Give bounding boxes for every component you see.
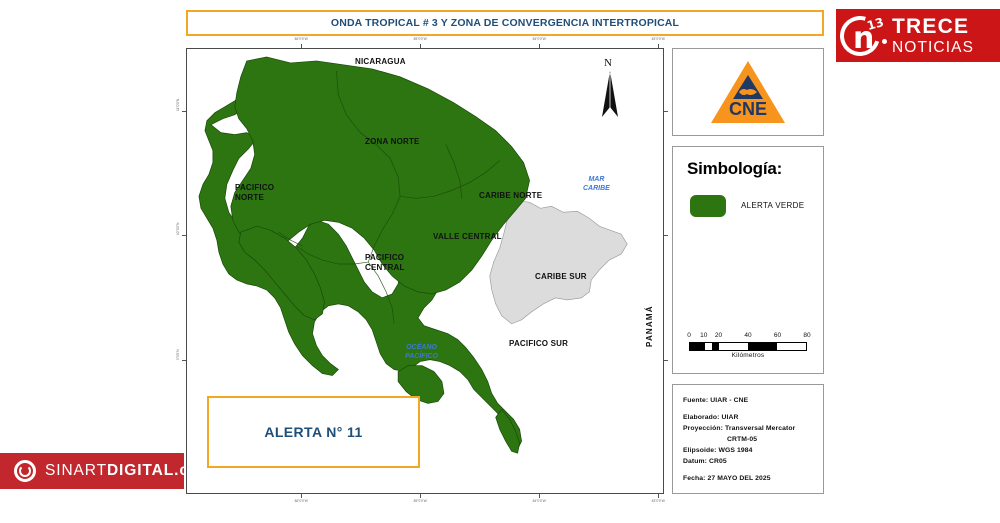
alerta-number-text: ALERTA N° 11 [264, 424, 362, 440]
meta-source: Fuente: UIAR - CNE [683, 395, 823, 406]
sinart-text-regular: SINART [45, 462, 107, 479]
scale-tick-40: 40 [744, 332, 751, 339]
cne-abbr-text: CNE [711, 99, 785, 120]
scale-tick-10: 10 [700, 332, 707, 339]
cne-logo-icon: CNE [711, 61, 785, 123]
meta-elaborado: Elaborado: UIAR [683, 412, 823, 423]
trece-line2: NOTICIAS [892, 40, 974, 56]
region-caribe-sur-shape [490, 200, 627, 323]
scale-tick-60: 60 [774, 332, 781, 339]
map-frame: 86°0'0"W 85°0'0"W 84°0'0"W 83°0'0"W 86°0… [186, 48, 664, 494]
n13-dot-icon [882, 39, 887, 44]
map-title-banner: ONDA TROPICAL # 3 Y ZONA DE CONVERGENCIA… [186, 10, 824, 36]
legend-swatch-alerta-verde [690, 195, 726, 217]
map-ticks-left: 11°0'0"N 10°0'0"N 9°0'0"N [172, 49, 186, 493]
meta-proyeccion: Proyección: Transversal Mercator [683, 423, 823, 434]
map-ticks-top: 86°0'0"W 85°0'0"W 84°0'0"W 83°0'0"W [187, 36, 663, 48]
legend-label-alerta-verde: ALERTA VERDE [741, 201, 804, 210]
tick-label-y1: 11°0'0"N [176, 99, 180, 111]
alerta-number-box: ALERTA N° 11 [207, 396, 420, 468]
tick-label-x3: 84°0'0"W [533, 37, 546, 41]
tick-label-xb4: 83°0'0"W [652, 499, 665, 503]
label-pacifico-sur: PACIFICO SUR [509, 339, 568, 348]
label-nicaragua: NICARAGUA [355, 57, 406, 66]
meta-proyeccion-cont: CRTM-05 [683, 434, 823, 445]
meta-fecha: Fecha: 27 MAYO DEL 2025 [683, 473, 823, 484]
label-caribe-norte: CARIBE NORTE [479, 191, 542, 200]
sinart-spiral-icon [14, 460, 36, 482]
scale-bar: 0 10 20 40 60 80 Kilómetros [689, 332, 807, 359]
simbologia-title: Simbología: [687, 159, 782, 179]
label-zona-norte: ZONA NORTE [365, 137, 420, 146]
scale-tick-0: 0 [687, 332, 691, 339]
scale-bar-graphic [689, 342, 807, 351]
trece-wordmark: TRECE NOTICIAS [890, 16, 974, 56]
sinart-text-bold: DIGITAL [107, 462, 174, 479]
tick-label-x2: 85°0'0"W [414, 37, 427, 41]
label-caribe-sur: CARIBE SUR [535, 272, 587, 281]
meta-elipsoide: Elipsoide: WGS 1984 [683, 445, 823, 456]
sinart-digital-watermark: SINARTDIGITAL.com [0, 453, 184, 489]
map-ticks-bottom: 86°0'0"W 85°0'0"W 84°0'0"W 83°0'0"W [187, 494, 663, 506]
label-pacifico-norte: PACIFICO NORTE [235, 183, 274, 203]
cne-country-silhouette-icon [738, 87, 758, 97]
tick-label-xb2: 85°0'0"W [414, 499, 427, 503]
cne-logo-panel: CNE [672, 48, 824, 136]
meta-datum: Datum: CR05 [683, 456, 823, 467]
north-arrow-letter: N [604, 57, 612, 69]
label-oceano-pacifico: OCÉANO PACÍFICO [405, 343, 438, 361]
trece-noticias-logo: n 13 TRECE NOTICIAS [836, 9, 1000, 62]
tick-label-x1: 86°0'0"W [295, 37, 308, 41]
tick-label-x4: 83°0'0"W [652, 37, 665, 41]
tick-label-xb3: 84°0'0"W [533, 499, 546, 503]
scale-tick-80: 80 [803, 332, 810, 339]
tick-label-y2: 10°0'0"N [176, 223, 180, 235]
label-mar-caribe: MAR CARIBE [583, 175, 610, 193]
scale-bar-unit: Kilómetros [689, 352, 807, 359]
scale-bar-ticks: 0 10 20 40 60 80 [689, 332, 807, 342]
label-panama: PANAMÁ [645, 305, 654, 347]
tick-label-xb1: 86°0'0"W [295, 499, 308, 503]
north-arrow-icon: N [599, 57, 621, 119]
map-title-text: ONDA TROPICAL # 3 Y ZONA DE CONVERGENCIA… [331, 17, 679, 29]
tick-label-y3: 9°0'0"N [176, 349, 180, 360]
scale-tick-20: 20 [715, 332, 722, 339]
label-pacifico-central: PACIFICO CENTRAL [365, 253, 405, 273]
label-valle-central: VALLE CENTRAL [433, 232, 502, 241]
trece-line1: TRECE [892, 16, 974, 37]
n13-mark-icon: n 13 [836, 9, 890, 62]
n13-number: 13 [865, 15, 885, 33]
map-metadata-panel: Fuente: UIAR - CNE Elaborado: UIAR Proye… [672, 384, 824, 494]
simbologia-panel: Simbología: ALERTA VERDE 0 10 20 40 60 8… [672, 146, 824, 374]
